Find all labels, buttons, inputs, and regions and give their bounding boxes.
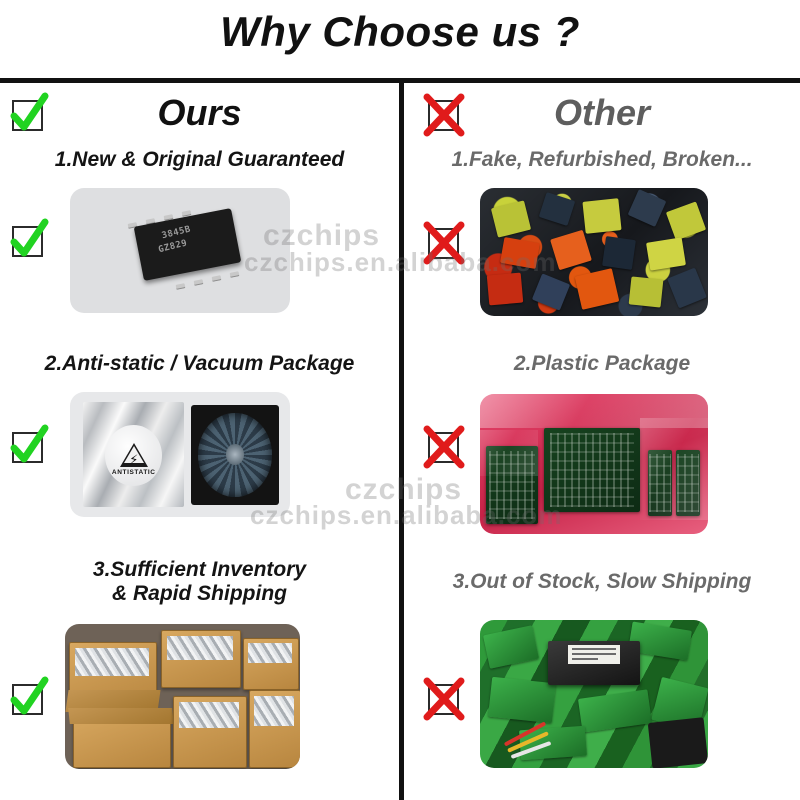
out-of-stock-scrap-photo (480, 620, 708, 768)
fake-refurbished-chips-photo (480, 188, 708, 316)
feature-heading-ours-2: 2.Anti-static / Vacuum Package (0, 352, 399, 376)
red-cross-icon (424, 426, 464, 466)
green-check-icon (8, 220, 48, 260)
red-cross-icon (424, 678, 464, 718)
antistatic-vacuum-package-photo: ⚡ ANTISTATIC (70, 392, 290, 517)
feature-heading-other-2: 2.Plastic Package (404, 352, 800, 376)
new-original-chip-photo: 3845B GZ829 (70, 188, 290, 313)
tray-hub (226, 444, 244, 464)
feature-heading-other-1: 1.Fake, Refurbished, Broken... (404, 148, 800, 172)
red-cross-icon (424, 222, 464, 262)
column-header-other: Other (404, 90, 800, 144)
antistatic-label-text: ANTISTATIC (105, 469, 162, 476)
black-module (548, 641, 639, 685)
sufficient-inventory-boxes-photo (65, 624, 300, 769)
green-check-icon (8, 426, 48, 466)
lightning-bolt-icon: ⚡ (129, 453, 138, 466)
antistatic-bag: ⚡ ANTISTATIC (83, 402, 184, 507)
chip-marking-line-2: GZ829 (157, 238, 188, 256)
column-title-ours: Ours (0, 92, 399, 134)
tray-reel (198, 413, 272, 497)
feature-heading-other-3: 3.Out of Stock, Slow Shipping (404, 570, 800, 594)
ic-tray (191, 405, 279, 505)
feature-heading-ours-3: 3.Sufficient Inventory & Rapid Shipping (0, 558, 399, 605)
column-ours: Ours 1.New & Original Guaranteed (0, 80, 399, 800)
green-check-icon (8, 678, 48, 718)
feature-heading-ours-1: 1.New & Original Guaranteed (0, 148, 399, 172)
comparison-infographic: Why Choose us ? Ours 1.New & Original Gu… (0, 0, 800, 800)
module-label (568, 645, 619, 664)
antistatic-label-disc: ⚡ ANTISTATIC (105, 425, 162, 486)
page-title: Why Choose us ? (0, 8, 800, 56)
column-other: Other 1.Fake, Refurbished, Broken... (404, 80, 800, 800)
column-title-other: Other (404, 92, 800, 134)
chip-marking-line-1: 3845B (161, 224, 192, 242)
plastic-package-photo (480, 394, 708, 534)
column-header-ours: Ours (0, 90, 399, 144)
